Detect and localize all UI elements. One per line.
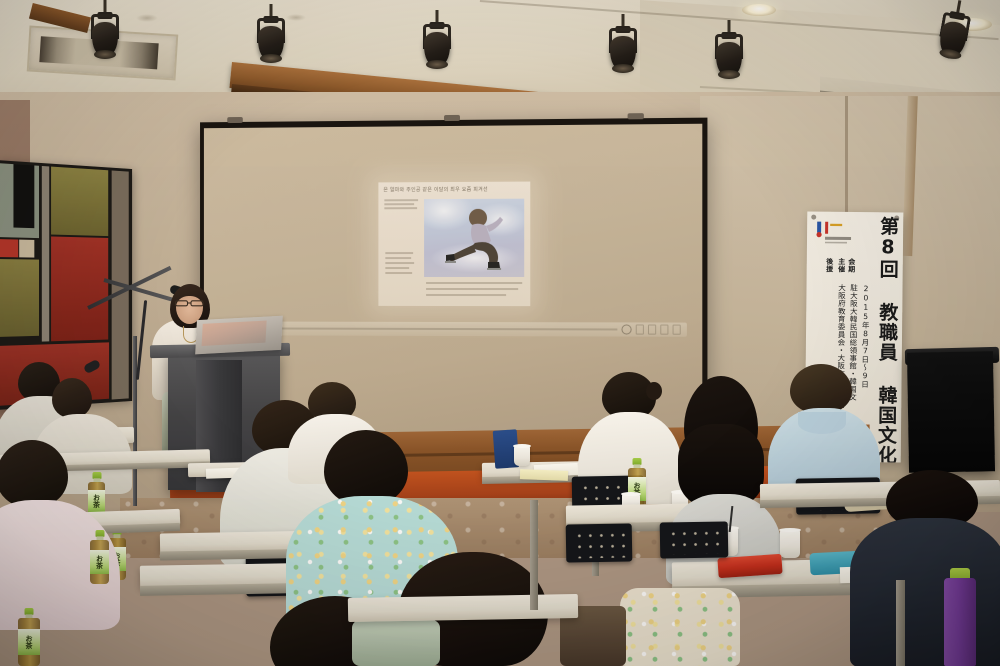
spotlight-lens <box>426 60 448 69</box>
slide-text-line <box>426 294 506 296</box>
audience-hair <box>52 378 92 418</box>
slide-text-line <box>384 207 417 209</box>
korean-cultural-center-logo <box>815 220 859 246</box>
bottle-label: お茶 <box>18 629 40 656</box>
slide-text-line <box>385 262 414 264</box>
paper-cup <box>514 446 530 466</box>
banner-value-dates: 2015年8月7日〜9日 <box>860 284 870 388</box>
track-spotlight <box>712 20 746 82</box>
presenter-glasses <box>175 300 205 307</box>
floral-bag <box>620 588 740 666</box>
mural-block <box>13 164 34 228</box>
spotlight-lens <box>612 64 634 73</box>
slide-portrait-photo <box>387 220 411 248</box>
mural-block <box>0 259 39 337</box>
table-leg <box>530 500 538 610</box>
mural-block <box>51 167 108 237</box>
bottle-label-text: お茶 <box>95 555 105 569</box>
chair-perforation <box>572 528 627 559</box>
slide-headline: 은 얼마와 주인공 같은 이달의 최우 요즘 피겨선 <box>383 186 525 196</box>
audience-dark-sweater <box>850 518 1000 666</box>
audience-hair <box>324 430 408 506</box>
mural-divider <box>42 166 49 342</box>
spotlight-lens <box>718 70 740 79</box>
track-spotlight <box>254 4 288 66</box>
seek-slider[interactable] <box>269 327 617 330</box>
screen-mount-clip <box>444 115 460 121</box>
presenter-laptop <box>195 316 283 355</box>
bottle-label-text: お茶 <box>24 635 34 649</box>
recessed-downlight <box>742 4 776 16</box>
mural-block <box>51 236 108 341</box>
banner-label-support: 後援 <box>825 258 835 273</box>
banner-label-host: 主催 <box>837 258 847 273</box>
bottle-label: お茶 <box>88 490 105 511</box>
table-leg <box>896 580 905 666</box>
bottle-body: お茶 <box>18 618 40 666</box>
laptop-screen <box>202 321 267 346</box>
wall-seam <box>845 96 848 226</box>
slide-text-line <box>426 282 522 284</box>
ceiling-dimple <box>286 14 306 21</box>
slide-photo-skater <box>424 199 524 277</box>
projected-slide: 은 얼마와 주인공 같은 이달의 최우 요즘 피겨선 <box>378 182 530 307</box>
bottle-label-text: お茶 <box>92 494 102 508</box>
microphone-stand-pole <box>133 336 137 506</box>
window-mode-chip[interactable] <box>673 325 681 335</box>
covered-grand-piano <box>907 351 995 472</box>
audience-table <box>348 594 578 622</box>
photo-scene: 은 얼마와 주인공 같은 이달의 최우 요즘 피겨선 <box>0 0 1000 666</box>
spotlight-lens <box>260 54 282 63</box>
spotlight-lens <box>94 50 116 59</box>
fullscreen-chip[interactable] <box>660 325 668 335</box>
banner-label-dates: 会期 <box>847 258 857 273</box>
purple-bottle-cover <box>944 578 976 666</box>
tea-bottle: お茶 <box>90 530 109 584</box>
chair-back <box>660 521 729 558</box>
chair-back <box>566 523 633 562</box>
screen-mount-clip <box>628 113 644 119</box>
mural-block <box>19 240 34 258</box>
track-spotlight <box>88 0 122 62</box>
hoodie-hood <box>798 412 846 434</box>
slide-text-line <box>384 199 418 201</box>
screen-mount-clip <box>227 117 243 123</box>
paper-cup <box>780 530 800 558</box>
tea-bottle: お茶 <box>18 608 40 666</box>
slide-text-line <box>385 257 411 259</box>
audience-hair <box>790 364 852 414</box>
slide-text-line <box>385 272 412 274</box>
banner-title: 第8回 教職員 韓国文化研 <box>872 216 901 458</box>
bottle-body: お茶 <box>90 540 109 584</box>
figure-skater-silhouette <box>442 207 518 275</box>
display-settings-chip[interactable] <box>636 324 644 334</box>
slide-text-line <box>384 203 414 205</box>
bottle-label: お茶 <box>90 550 109 575</box>
slide-text-line <box>385 267 409 269</box>
ceiling-dimple <box>136 14 158 22</box>
screen-size-chip[interactable] <box>648 325 656 335</box>
media-player-toolbar[interactable]: 0:00 <box>212 321 687 336</box>
track-spotlight <box>420 10 454 72</box>
chair-perforation <box>666 526 722 555</box>
handout-paper <box>520 469 568 481</box>
mural-block <box>0 239 18 257</box>
slide-text-line <box>385 252 413 254</box>
track-spotlight <box>606 14 640 76</box>
slide-text-line <box>426 288 518 290</box>
settings-button[interactable] <box>621 324 631 334</box>
under-table-bag <box>352 620 440 666</box>
audience-hair-bun <box>646 382 662 400</box>
